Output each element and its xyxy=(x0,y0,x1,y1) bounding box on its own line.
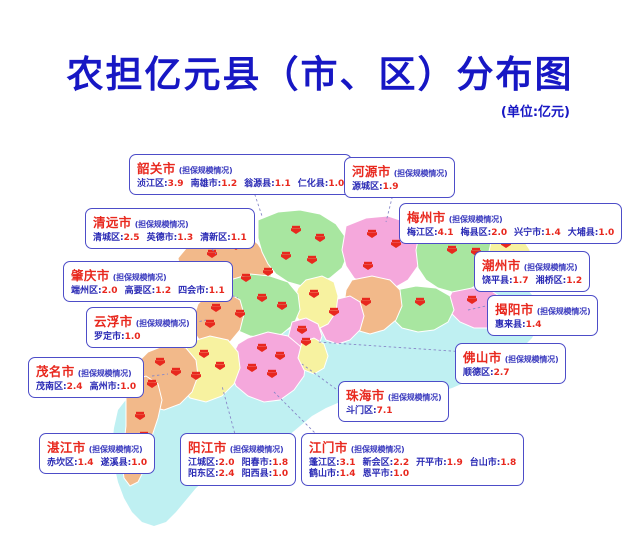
callout-yangjiang[interactable]: 阳江市(担保规模情况) 江城区:2.0阳春市:1.8 阳东区:2.4阳西县:1.… xyxy=(180,433,296,486)
county-entry: 罗定市:1.0 xyxy=(94,332,141,343)
county-value: 1.8 xyxy=(500,458,516,468)
city-name: 清远市 xyxy=(93,215,132,230)
county-name: 仁化县 xyxy=(298,179,325,189)
county-name: 赤坎区 xyxy=(47,458,74,468)
callout-header: 清远市(担保规模情况) xyxy=(93,212,247,232)
county-name: 斗门区 xyxy=(346,406,373,416)
county-value: 4.1 xyxy=(438,228,454,238)
county-entry: 斗门区:7.1 xyxy=(346,406,393,417)
city-name: 河源市 xyxy=(352,164,391,179)
callout-zhuhai[interactable]: 珠海市(担保规模情况) 斗门区:7.1 xyxy=(338,381,449,422)
county-entry: 兴宁市:1.4 xyxy=(514,228,561,239)
city-name: 江门市 xyxy=(309,440,348,455)
callout-foshan[interactable]: 佛山市(担保规模情况) 顺德区:2.7 xyxy=(455,343,566,384)
county-entry: 恩平市:1.0 xyxy=(363,469,410,480)
callout-header: 珠海市(担保规模情况) xyxy=(346,385,441,405)
county-name: 阳西县 xyxy=(242,469,269,479)
county-entry: 英德市:1.3 xyxy=(147,233,194,244)
county-entry: 端州区:2.0 xyxy=(71,286,118,297)
county-name: 茂南区 xyxy=(36,382,63,392)
county-entry: 梅县区:2.0 xyxy=(461,228,508,239)
city-subtitle: (担保规模情况) xyxy=(351,445,405,454)
county-value: 1.8 xyxy=(272,458,288,468)
callout-zhaoqing[interactable]: 肇庆市(担保规模情况) 端州区:2.0高要区:1.2四会市:1.1 xyxy=(63,261,233,302)
county-entry: 清城区:2.5 xyxy=(93,233,140,244)
county-name: 顺德区 xyxy=(463,368,490,378)
poster-root: 农担亿元县（市、区）分布图 (单位:亿元) xyxy=(0,0,640,553)
county-entry: 开平市:1.9 xyxy=(416,458,463,469)
callout-row: 鹤山市:1.4恩平市:1.0 xyxy=(309,469,516,480)
callout-header: 江门市(担保规模情况) xyxy=(309,437,516,457)
callout-chaozhou[interactable]: 潮州市(担保规模情况) 饶平县:1.7湘桥区:1.2 xyxy=(474,251,590,292)
county-name: 大埔县 xyxy=(568,228,595,238)
city-subtitle: (担保规模情况) xyxy=(113,273,167,282)
callout-row: 江城区:2.0阳春市:1.8 xyxy=(188,458,288,469)
callout-header: 阳江市(担保规模情况) xyxy=(188,437,288,457)
county-entry: 翁源县:1.1 xyxy=(244,179,291,190)
county-entry: 茂南区:2.4 xyxy=(36,382,83,393)
county-value: 1.9 xyxy=(383,182,399,192)
county-name: 阳东区 xyxy=(188,469,215,479)
city-subtitle: (担保规模情况) xyxy=(89,445,143,454)
callout-shaoguan[interactable]: 韶关市(担保规模情况) 浈江区:3.9南雄市:1.2翁源县:1.1仁化县:1.0 xyxy=(129,154,352,195)
callout-row: 浈江区:3.9南雄市:1.2翁源县:1.1仁化县:1.0 xyxy=(137,179,344,190)
county-name: 翁源县 xyxy=(244,179,271,189)
county-value: 1.4 xyxy=(526,320,542,330)
county-value: 3.1 xyxy=(340,458,356,468)
county-entry: 遂溪县:1.0 xyxy=(101,458,148,469)
county-name: 梅县区 xyxy=(461,228,488,238)
county-entry: 惠来县:1.4 xyxy=(495,320,542,331)
county-entry: 浈江区:3.9 xyxy=(137,179,184,190)
callout-header: 河源市(担保规模情况) xyxy=(352,161,447,181)
callout-row: 源城区:1.9 xyxy=(352,182,447,193)
city-name: 湛江市 xyxy=(47,440,86,455)
city-subtitle: (担保规模情况) xyxy=(394,169,448,178)
county-value: 1.4 xyxy=(78,458,94,468)
callout-row: 斗门区:7.1 xyxy=(346,406,441,417)
callout-row: 茂南区:2.4高州市:1.0 xyxy=(36,382,136,393)
city-name: 珠海市 xyxy=(346,388,385,403)
city-subtitle: (担保规模情况) xyxy=(135,220,189,229)
county-value: 1.4 xyxy=(545,228,561,238)
county-name: 四会市 xyxy=(178,286,205,296)
county-name: 英德市 xyxy=(147,233,174,243)
city-name: 佛山市 xyxy=(463,350,502,365)
county-name: 端州区 xyxy=(71,286,98,296)
callout-header: 佛山市(担保规模情况) xyxy=(463,347,558,367)
city-name: 云浮市 xyxy=(94,314,133,329)
county-entry: 湘桥区:1.2 xyxy=(536,276,583,287)
county-name: 蓬江区 xyxy=(309,458,336,468)
county-value: 2.0 xyxy=(102,286,118,296)
county-name: 南雄市 xyxy=(191,179,218,189)
county-entry: 蓬江区:3.1 xyxy=(309,458,356,469)
county-name: 恩平市 xyxy=(363,469,390,479)
county-entry: 阳东区:2.4 xyxy=(188,469,235,480)
callout-row: 罗定市:1.0 xyxy=(94,332,189,343)
city-name: 揭阳市 xyxy=(495,302,534,317)
callout-row: 蓬江区:3.1新会区:2.2开平市:1.9台山市:1.8 xyxy=(309,458,516,469)
county-value: 1.1 xyxy=(209,286,225,296)
callout-header: 茂名市(担保规模情况) xyxy=(36,361,136,381)
county-value: 1.3 xyxy=(177,233,193,243)
city-subtitle: (担保规模情况) xyxy=(505,355,559,364)
county-entry: 鹤山市:1.4 xyxy=(309,469,356,480)
county-entry: 阳春市:1.8 xyxy=(242,458,289,469)
county-entry: 四会市:1.1 xyxy=(178,286,225,297)
county-value: 2.0 xyxy=(219,458,235,468)
city-subtitle: (担保规模情况) xyxy=(537,307,591,316)
county-value: 1.1 xyxy=(231,233,247,243)
county-name: 高州市 xyxy=(90,382,117,392)
county-entry: 高州市:1.0 xyxy=(90,382,137,393)
county-value: 1.0 xyxy=(125,332,141,342)
city-subtitle: (担保规模情况) xyxy=(179,166,233,175)
county-name: 湘桥区 xyxy=(536,276,563,286)
callout-maoming[interactable]: 茂名市(担保规模情况) 茂南区:2.4高州市:1.0 xyxy=(28,357,144,398)
city-subtitle: (担保规模情况) xyxy=(136,319,190,328)
county-entry: 阳西县:1.0 xyxy=(242,469,289,480)
county-value: 2.7 xyxy=(494,368,510,378)
city-name: 韶关市 xyxy=(137,161,176,176)
city-name: 梅州市 xyxy=(407,210,446,225)
county-name: 开平市 xyxy=(416,458,443,468)
county-name: 清新区 xyxy=(200,233,227,243)
county-entry: 高要区:1.2 xyxy=(125,286,172,297)
callout-jieyang[interactable]: 揭阳市(担保规模情况) 惠来县:1.4 xyxy=(487,295,598,336)
county-entry: 台山市:1.8 xyxy=(470,458,517,469)
callout-zhanjiang[interactable]: 湛江市(担保规模情况) 赤坎区:1.4遂溪县:1.0 xyxy=(39,433,155,474)
county-name: 鹤山市 xyxy=(309,469,336,479)
city-subtitle: (担保规模情况) xyxy=(524,263,578,272)
city-subtitle: (担保规模情况) xyxy=(78,369,132,378)
county-name: 高要区 xyxy=(125,286,152,296)
city-name: 阳江市 xyxy=(188,440,227,455)
unit-note: (单位:亿元) xyxy=(501,101,570,120)
page-title: 农担亿元县（市、区）分布图 xyxy=(0,44,640,98)
county-value: 2.4 xyxy=(219,469,235,479)
county-value: 1.0 xyxy=(120,382,136,392)
county-name: 浈江区 xyxy=(137,179,164,189)
county-value: 2.2 xyxy=(393,458,409,468)
county-name: 罗定市 xyxy=(94,332,121,342)
county-name: 阳春市 xyxy=(242,458,269,468)
county-value: 1.0 xyxy=(272,469,288,479)
callout-yunfu[interactable]: 云浮市(担保规模情况) 罗定市:1.0 xyxy=(86,307,197,348)
callout-row: 端州区:2.0高要区:1.2四会市:1.1 xyxy=(71,286,225,297)
county-entry: 仁化县:1.0 xyxy=(298,179,345,190)
callout-header: 湛江市(担保规模情况) xyxy=(47,437,147,457)
county-value: 2.0 xyxy=(491,228,507,238)
city-name: 茂名市 xyxy=(36,364,75,379)
county-value: 3.9 xyxy=(168,179,184,189)
city-subtitle: (担保规模情况) xyxy=(388,393,442,402)
county-value: 2.4 xyxy=(67,382,83,392)
county-value: 1.4 xyxy=(340,469,356,479)
callout-header: 云浮市(担保规模情况) xyxy=(94,311,189,331)
callout-row: 清城区:2.5英德市:1.3清新区:1.1 xyxy=(93,233,247,244)
callout-heyuan[interactable]: 河源市(担保规模情况) 源城区:1.9 xyxy=(344,157,455,198)
county-name: 新会区 xyxy=(363,458,390,468)
county-entry: 大埔县:1.0 xyxy=(568,228,615,239)
county-name: 惠来县 xyxy=(495,320,522,330)
county-entry: 江城区:2.0 xyxy=(188,458,235,469)
county-value: 1.9 xyxy=(447,458,463,468)
county-value: 2.5 xyxy=(124,233,140,243)
county-value: 1.0 xyxy=(131,458,147,468)
county-name: 台山市 xyxy=(470,458,497,468)
city-name: 潮州市 xyxy=(482,258,521,273)
county-entry: 南雄市:1.2 xyxy=(191,179,238,190)
callout-row: 惠来县:1.4 xyxy=(495,320,590,331)
county-name: 兴宁市 xyxy=(514,228,541,238)
callout-header: 揭阳市(担保规模情况) xyxy=(495,299,590,319)
city-subtitle: (担保规模情况) xyxy=(449,215,503,224)
county-entry: 源城区:1.9 xyxy=(352,182,399,193)
county-value: 1.0 xyxy=(393,469,409,479)
county-value: 7.1 xyxy=(377,406,393,416)
county-value: 1.2 xyxy=(566,276,582,286)
county-entry: 清新区:1.1 xyxy=(200,233,247,244)
county-value: 1.2 xyxy=(155,286,171,296)
county-value: 1.0 xyxy=(328,179,344,189)
callout-row: 饶平县:1.7湘桥区:1.2 xyxy=(482,276,582,287)
county-name: 源城区 xyxy=(352,182,379,192)
callout-meizhou[interactable]: 梅州市(担保规模情况) 梅江区:4.1梅县区:2.0兴宁市:1.4大埔县:1.0 xyxy=(399,203,622,244)
county-value: 1.7 xyxy=(513,276,529,286)
callout-header: 韶关市(担保规模情况) xyxy=(137,158,344,178)
county-name: 清城区 xyxy=(93,233,120,243)
county-value: 1.2 xyxy=(221,179,237,189)
callout-qingyuan[interactable]: 清远市(担保规模情况) 清城区:2.5英德市:1.3清新区:1.1 xyxy=(85,208,255,249)
callout-row: 阳东区:2.4阳西县:1.0 xyxy=(188,469,288,480)
county-name: 江城区 xyxy=(188,458,215,468)
county-entry: 赤坎区:1.4 xyxy=(47,458,94,469)
callout-header: 潮州市(担保规模情况) xyxy=(482,255,582,275)
county-entry: 梅江区:4.1 xyxy=(407,228,454,239)
county-value: 1.0 xyxy=(598,228,614,238)
county-entry: 顺德区:2.7 xyxy=(463,368,510,379)
callout-row: 赤坎区:1.4遂溪县:1.0 xyxy=(47,458,147,469)
county-entry: 新会区:2.2 xyxy=(363,458,410,469)
callout-row: 顺德区:2.7 xyxy=(463,368,558,379)
county-name: 遂溪县 xyxy=(101,458,128,468)
county-value: 1.1 xyxy=(275,179,291,189)
callout-jiangmen[interactable]: 江门市(担保规模情况) 蓬江区:3.1新会区:2.2开平市:1.9台山市:1.8… xyxy=(301,433,524,486)
county-name: 饶平县 xyxy=(482,276,509,286)
callout-header: 肇庆市(担保规模情况) xyxy=(71,265,225,285)
callout-row: 梅江区:4.1梅县区:2.0兴宁市:1.4大埔县:1.0 xyxy=(407,228,614,239)
county-name: 梅江区 xyxy=(407,228,434,238)
city-name: 肇庆市 xyxy=(71,268,110,283)
county-entry: 饶平县:1.7 xyxy=(482,276,529,287)
callout-header: 梅州市(担保规模情况) xyxy=(407,207,614,227)
city-subtitle: (担保规模情况) xyxy=(230,445,284,454)
